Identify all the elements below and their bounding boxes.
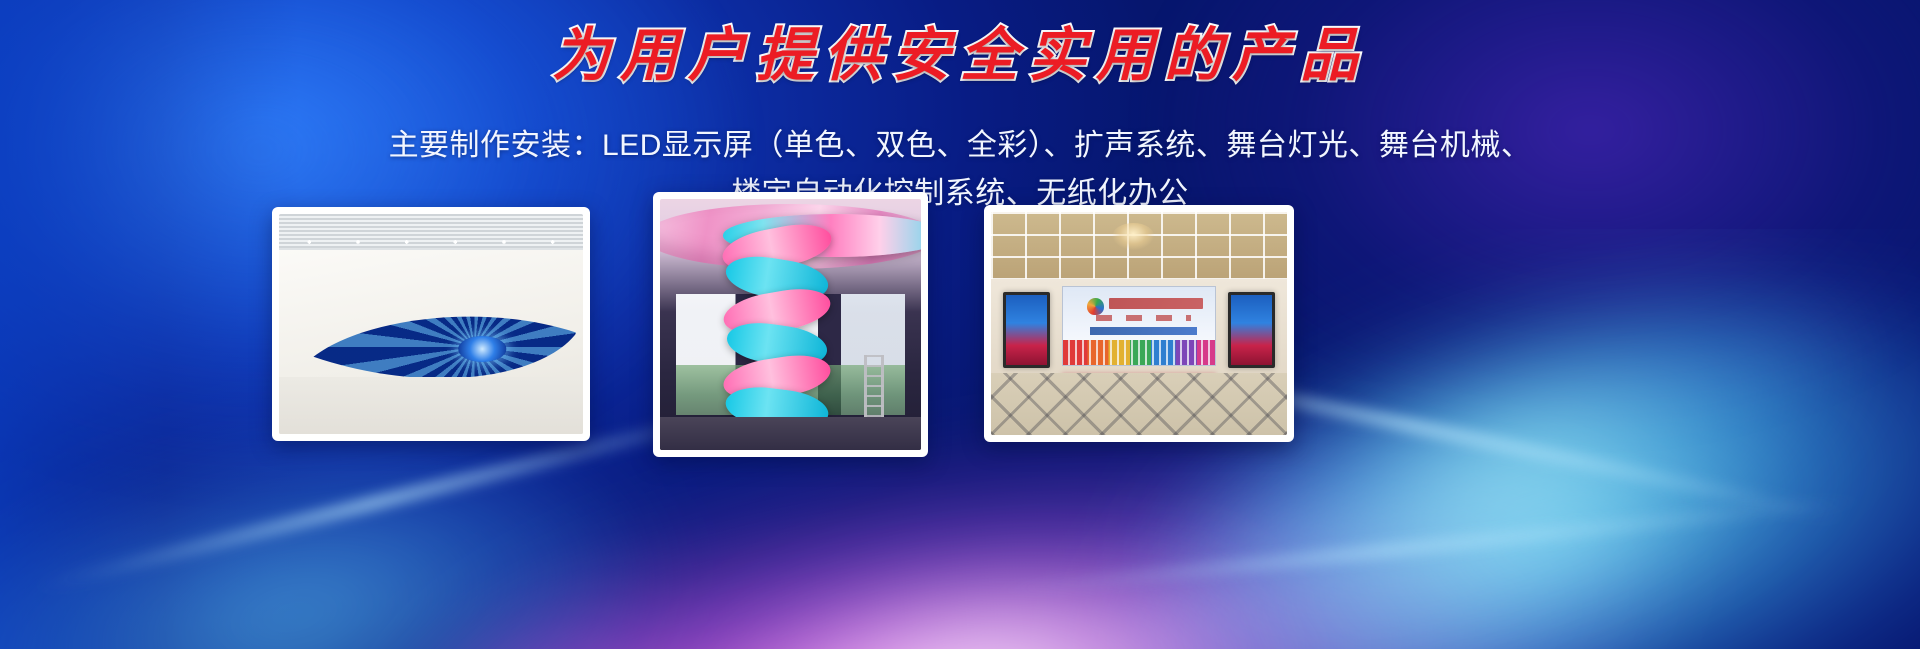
right-pillar-led-panel — [1228, 292, 1275, 368]
screen-slogan-line — [1090, 327, 1196, 335]
gallery-photo-card-1[interactable] — [272, 207, 590, 441]
gallery-photo-card-2[interactable] — [653, 192, 928, 457]
atrium-floor — [660, 417, 921, 450]
left-pillar-led-panel — [1003, 292, 1050, 368]
chandelier — [1112, 223, 1153, 250]
company-logo-icon — [1087, 298, 1104, 315]
lobby-floor — [279, 377, 583, 434]
banner-content: 为用户提供安全实用的产品 主要制作安装：LED显示屏（单色、双色、全彩）、扩声系… — [0, 0, 1920, 649]
photo-gallery — [0, 0, 1920, 649]
screen-services-line — [1096, 315, 1190, 321]
promo-banner: 为用户提供安全实用的产品 主要制作安装：LED显示屏（单色、双色、全彩）、扩声系… — [0, 0, 1920, 649]
slatted-ceiling — [279, 214, 583, 250]
checkered-marble-floor — [991, 373, 1287, 435]
spiral-ribbon-led-column-photo — [660, 199, 921, 450]
conference-hall-led-wall-photo — [991, 212, 1287, 435]
gallery-photo-card-3[interactable] — [984, 205, 1294, 442]
main-led-screen — [1062, 286, 1216, 366]
spiral-led-ribbon — [717, 224, 837, 430]
screen-company-name-line — [1109, 298, 1203, 309]
eye-shaped-led-display-photo — [279, 214, 583, 434]
screen-city-skyline — [1063, 340, 1215, 365]
